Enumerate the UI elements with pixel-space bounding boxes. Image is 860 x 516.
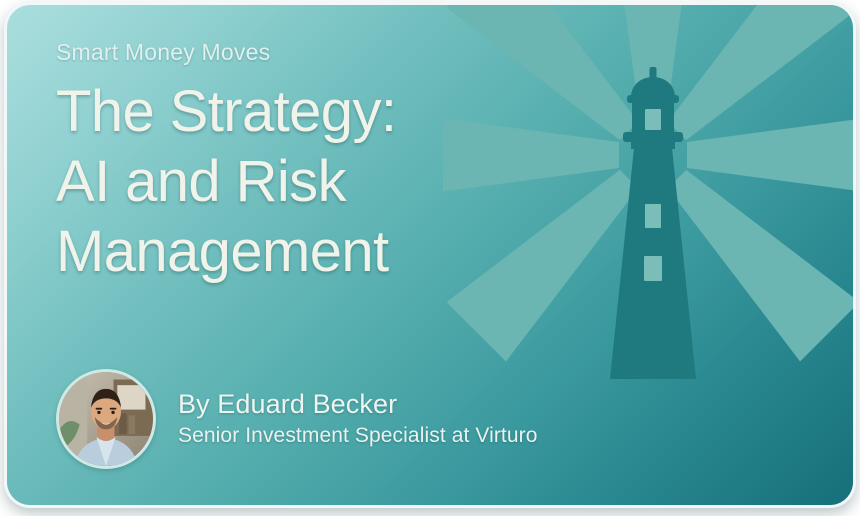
- article-cover-card-frame: Smart Money Moves The Strategy: AI and R…: [4, 2, 856, 508]
- page-title-line-2: AI and Risk: [56, 147, 526, 217]
- cover-content: Smart Money Moves The Strategy: AI and R…: [7, 5, 853, 505]
- avatar-photo: [59, 372, 153, 466]
- article-cover-card: Smart Money Moves The Strategy: AI and R…: [7, 5, 853, 505]
- page-title-line-1: The Strategy:: [56, 77, 526, 147]
- author-role: Senior Investment Specialist at Virturo: [178, 424, 538, 448]
- page-title: The Strategy: AI and Risk Management: [56, 77, 526, 287]
- byline-text: By Eduard Becker Senior Investment Speci…: [178, 389, 538, 450]
- byline: By Eduard Becker Senior Investment Speci…: [56, 369, 538, 469]
- avatar: [56, 369, 156, 469]
- page-title-line-3: Management: [56, 217, 526, 287]
- eyebrow-label: Smart Money Moves: [56, 39, 270, 66]
- author-name: By Eduard Becker: [178, 389, 538, 420]
